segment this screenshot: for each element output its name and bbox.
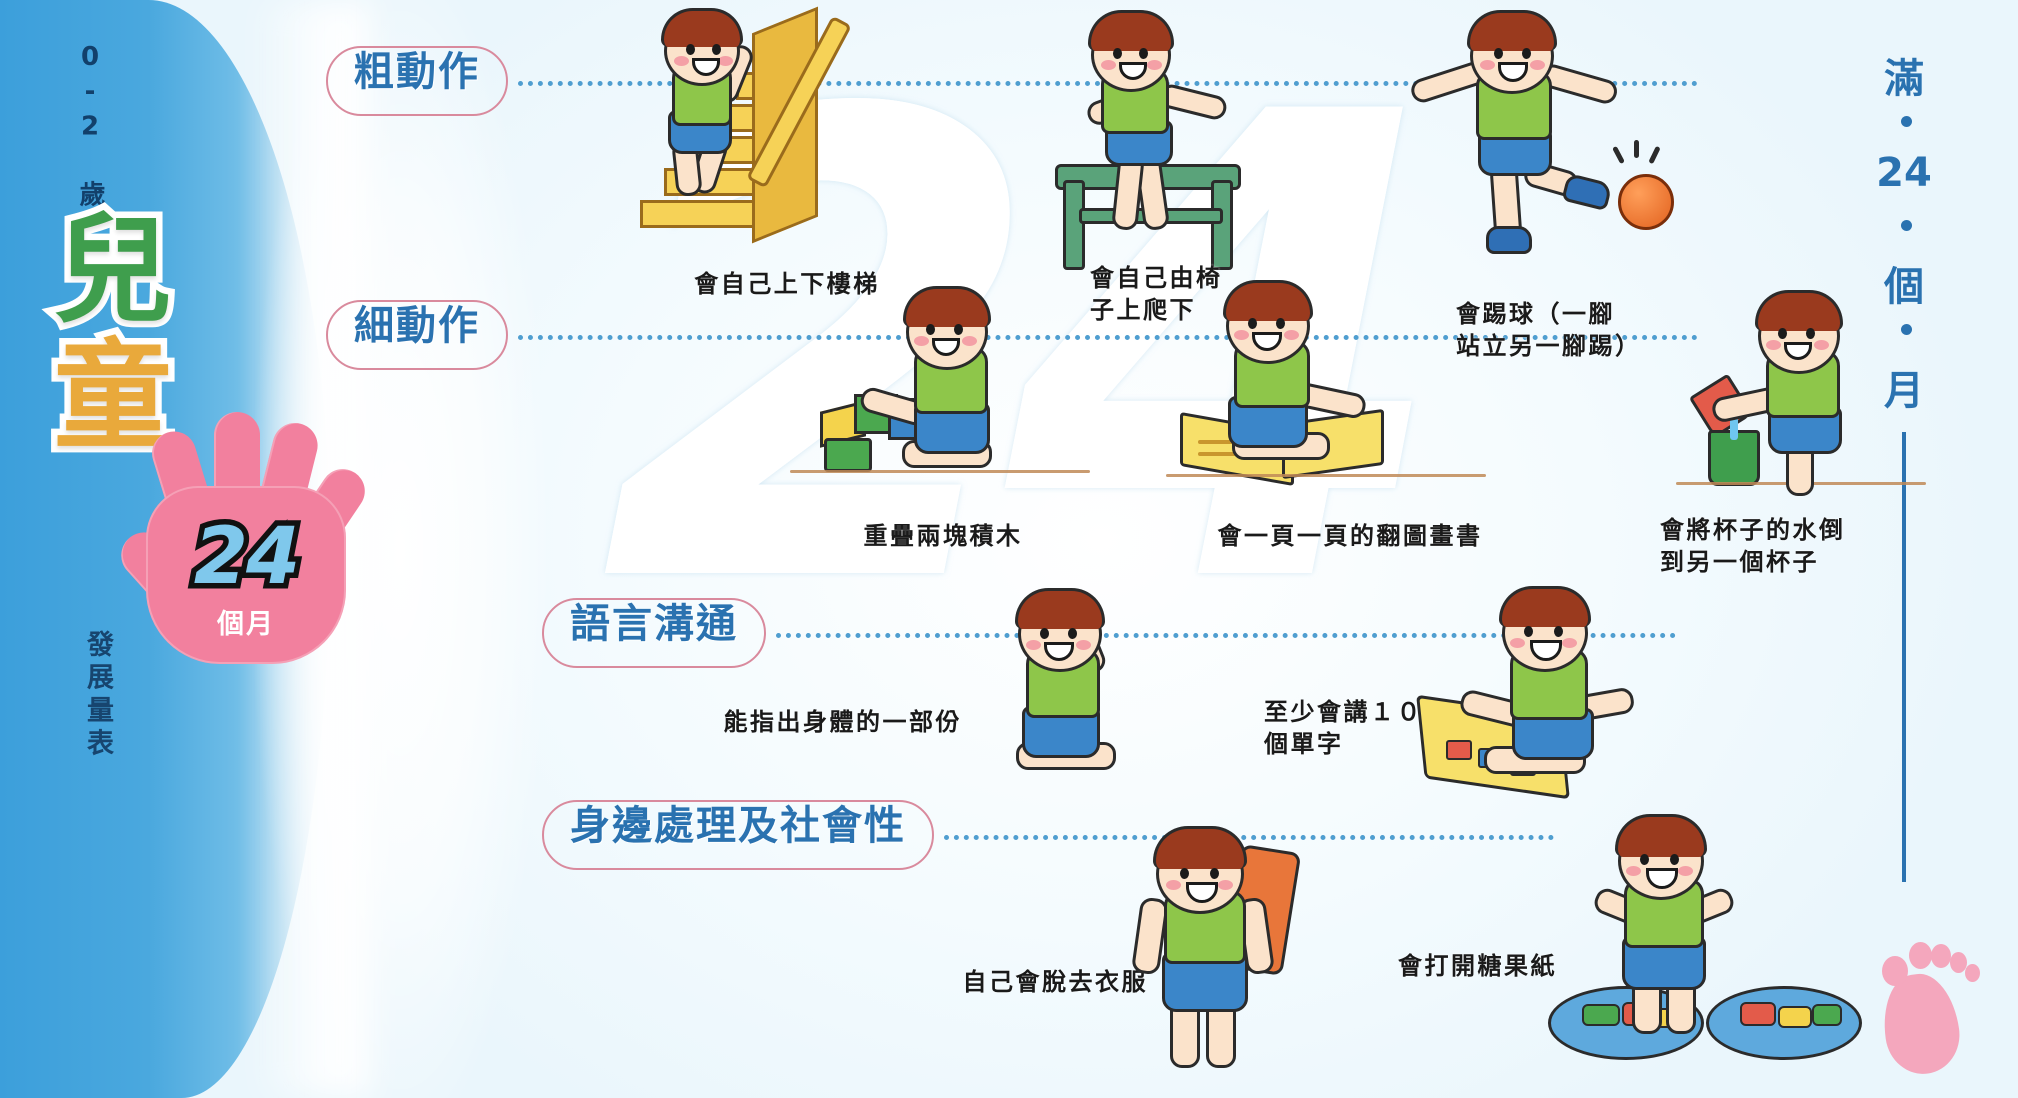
illustration-blocks xyxy=(810,290,1070,510)
hand-badge: 24 個月 xyxy=(128,408,364,673)
kid-eye-right xyxy=(1139,48,1148,59)
kid-eye-left xyxy=(1113,48,1122,59)
kid-cheek-right xyxy=(1218,880,1233,890)
kid-eye-right xyxy=(712,44,721,55)
kid-hair xyxy=(1755,290,1843,331)
caption-candy: 會打開糖果紙 xyxy=(1398,950,1648,982)
category-pill-social: 身邊處理及社會性 xyxy=(542,800,934,870)
category-label-social: 身邊處理及社會性 xyxy=(570,803,906,849)
kid-cheek-right xyxy=(718,56,733,66)
illustration-body-parts xyxy=(990,586,1230,806)
kid-cheek-left xyxy=(1166,880,1181,890)
stair-step-1 xyxy=(640,200,758,228)
kid-cheek-right xyxy=(1530,60,1545,70)
chair-leg-right xyxy=(1211,180,1233,270)
kid-cheek-left xyxy=(1766,340,1781,350)
kid-eye-right xyxy=(954,324,963,335)
kid-cheek-right xyxy=(962,336,977,346)
kid-shoe-left xyxy=(1486,226,1532,254)
badge-month-unit: 個月 xyxy=(162,602,330,641)
kid-hair xyxy=(1467,10,1557,51)
kid-eye-left xyxy=(1524,626,1533,637)
illustration-kick-ball xyxy=(1400,14,1690,274)
kid-eye-left xyxy=(1640,854,1649,865)
chair-leg-left xyxy=(1063,180,1085,270)
food-red-2 xyxy=(1740,1002,1776,1026)
kid-cheek-left xyxy=(1510,638,1525,648)
caption-body-parts: 能指出身體的一部份 xyxy=(672,706,962,738)
kid-eye-left xyxy=(686,44,695,55)
kid-eye-right xyxy=(1522,48,1531,59)
age-range-label: 0-2 歲 xyxy=(72,42,109,211)
food-green xyxy=(1582,1004,1620,1026)
axis-dot-1 xyxy=(1901,116,1912,127)
kid-hair xyxy=(1088,10,1174,51)
category-label-gross-motor: 粗動作 xyxy=(354,49,480,95)
kid-eye-left xyxy=(1778,328,1787,339)
kid-eye-right xyxy=(1806,328,1815,339)
kid-cheek-left xyxy=(1026,640,1041,650)
kid-cheek-right xyxy=(1147,60,1162,70)
footprint-icon xyxy=(1862,930,1992,1080)
illustration-picture-book xyxy=(1190,288,1470,508)
footprint-toe-1 xyxy=(1882,956,1908,986)
kid-hair xyxy=(1499,586,1591,627)
kid-eye-right xyxy=(1210,868,1219,879)
food-green-2 xyxy=(1812,1004,1842,1026)
kid-cheek-right xyxy=(1562,638,1577,648)
kid-eye-right xyxy=(1276,318,1285,329)
illustration-chair xyxy=(1035,12,1285,242)
kid-cheek-right xyxy=(1814,340,1829,350)
kid-eye-right xyxy=(1068,628,1077,639)
kid-cheek-left xyxy=(1480,60,1495,70)
illustration-stairs xyxy=(640,10,920,250)
category-pill-fine-motor: 細動作 xyxy=(326,300,508,370)
kid-cheek-right xyxy=(1076,640,1091,650)
category-label-fine-motor: 細動作 xyxy=(354,303,480,349)
kid-eye-left xyxy=(1180,868,1189,879)
kid-cheek-left xyxy=(1101,60,1116,70)
footprint-toe-2 xyxy=(1909,942,1932,969)
axis-dot-2 xyxy=(1901,220,1912,231)
kid-hair xyxy=(661,8,743,47)
caption-pour-water: 會將杯子的水倒 到另一個杯子 xyxy=(1660,514,1910,578)
brand-char-child-1: 兒 xyxy=(54,210,172,330)
axis-char-24: 24 xyxy=(1872,150,1936,196)
illustration-candy xyxy=(1560,790,1860,1080)
category-pill-gross-motor: 粗動作 xyxy=(326,46,508,116)
food-yellow-2 xyxy=(1778,1006,1812,1028)
kid-eye-right xyxy=(1554,626,1563,637)
kid-shoe-right xyxy=(1561,173,1612,211)
impact-spark-1 xyxy=(1612,146,1625,164)
kid-eye-left xyxy=(1248,318,1257,329)
floor-line xyxy=(1166,474,1486,477)
illustration-pour-water xyxy=(1690,296,1920,506)
kid-eye-left xyxy=(926,324,935,335)
impact-spark-2 xyxy=(1634,140,1639,158)
badge-month-number: 24 xyxy=(162,512,330,602)
axis-char-full: 滿 xyxy=(1872,46,1936,104)
poster-canvas: 24 0-2 歲 兒 童 發展量表 24 個月 粗動作 細動作 語言溝通 xyxy=(0,0,2018,1098)
category-pill-language: 語言溝通 xyxy=(542,598,766,668)
floor-line xyxy=(790,470,1090,473)
illustration-undress xyxy=(1110,790,1330,1080)
kid-eye-right xyxy=(1670,854,1679,865)
sidebar-subtitle: 發展量表 xyxy=(78,630,117,762)
kid-hair xyxy=(1015,588,1105,629)
caption-ten-words: 至少會講１０ 個單字 xyxy=(1264,696,1464,760)
caption-undress: 自己會脫去衣服 xyxy=(888,966,1148,998)
impact-spark-3 xyxy=(1648,146,1660,164)
kid-hair xyxy=(1153,826,1247,869)
illustration-ten-words xyxy=(1430,586,1710,816)
kid-cheek-right xyxy=(1284,330,1299,340)
kid-hair xyxy=(1223,280,1313,321)
kid-cheek-left xyxy=(1234,330,1249,340)
kid-eye-left xyxy=(1494,48,1503,59)
footprint-toe-5 xyxy=(1965,964,1980,982)
footprint-toe-3 xyxy=(1931,944,1951,968)
block-green-bottom xyxy=(824,438,872,472)
kid-cheek-left xyxy=(1626,866,1641,876)
soccer-ball xyxy=(1618,174,1674,230)
kid-eye-left xyxy=(1040,628,1049,639)
kid-cheek-right xyxy=(1678,866,1693,876)
caption-kick-ball: 會踢球（一腳 站立另一腳踢） xyxy=(1456,298,1696,362)
kid-hair xyxy=(903,286,991,327)
caption-picture-book: 會一頁一頁的翻圖畫書 xyxy=(1200,520,1500,552)
caption-blocks: 重疊兩塊積木 xyxy=(828,520,1058,552)
category-label-language: 語言溝通 xyxy=(570,601,738,647)
footprint-sole xyxy=(1877,969,1964,1078)
kid-hair xyxy=(1615,814,1707,857)
kid-cheek-left xyxy=(914,336,929,346)
kid-cheek-left xyxy=(674,56,689,66)
